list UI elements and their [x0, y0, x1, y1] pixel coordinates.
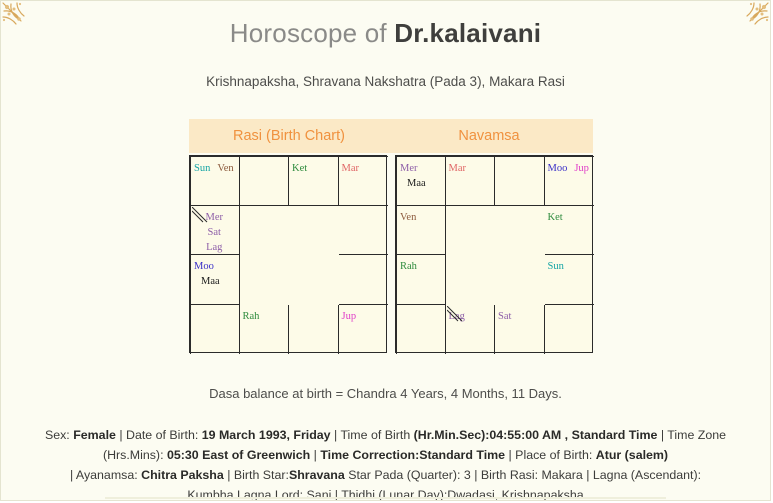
detail-label: | Time of Birth [331, 428, 414, 442]
detail-label: | [310, 448, 320, 462]
house-planet-list: Sat [495, 305, 544, 324]
birth-details-block: Sex: Female | Date of Birth: 19 March 19… [13, 425, 758, 501]
planet-label-moo: Moo [194, 259, 214, 274]
house-planet-list [191, 305, 239, 309]
dasa-balance-text: Dasa balance at birth = Chandra 4 Years,… [1, 386, 770, 401]
detail-value: Atur (salem) [596, 448, 668, 462]
planet-label-lag: Lag [194, 240, 235, 255]
birth-details-line: Sex: Female | Date of Birth: 19 March 19… [13, 425, 758, 445]
chart-house-cell[interactable] [339, 206, 389, 256]
page-title-prefix: Horoscope of [230, 18, 394, 48]
house-planet-list: Rah [397, 255, 445, 274]
chart-house-cell[interactable] [545, 305, 595, 355]
house-planet-list [397, 305, 445, 309]
house-planet-list: Mar [339, 157, 389, 176]
planet-label-maa: Maa [201, 274, 220, 289]
chart-house-cell[interactable]: Mar [446, 156, 496, 206]
house-planet-list: Ven [397, 206, 445, 225]
chart-house-cell[interactable]: Jup [339, 305, 389, 355]
planet-label-sat: Sat [498, 309, 511, 324]
detail-value: (Hr.Min.Sec):04:55:00 AM , Standard Time [414, 428, 658, 442]
chart-house-cell[interactable]: Ket [289, 156, 339, 206]
house-planet-list: Mar [446, 157, 495, 176]
navamsa-chart-grid[interactable]: MerMaaMarMooJupVenKetRahSunLagSat [395, 155, 593, 353]
chart-house-cell[interactable]: Ket [545, 206, 595, 256]
detail-value: Chitra Paksha [141, 468, 224, 482]
page-title: Horoscope of Dr.kalaivani [1, 1, 770, 49]
chart-house-cell[interactable] [240, 156, 290, 206]
rasi-chart-grid[interactable]: SunVenKetMarMerSatLagMooMaaRahJup [189, 155, 387, 353]
planet-label-sun: Sun [194, 161, 210, 176]
planet-label-rah: Rah [243, 309, 260, 324]
detail-label: | Time Zone [657, 428, 726, 442]
house-planet-list [240, 157, 289, 161]
detail-value: 19 March 1993, Friday [202, 428, 331, 442]
planet-label-jup: Jup [574, 161, 589, 176]
detail-label: | Date of Birth: [116, 428, 202, 442]
planet-label-mer: Mer [400, 161, 418, 176]
planet-label-ket: Ket [292, 161, 307, 176]
planet-label-mer: Mer [194, 210, 235, 225]
chart-house-cell[interactable] [190, 305, 240, 355]
detail-label: (Hrs.Mins): [103, 448, 167, 462]
house-planet-list: MerSatLag [191, 206, 239, 256]
planet-label-sun: Sun [548, 259, 564, 274]
page-title-name: Dr.kalaivani [394, 18, 541, 48]
house-planet-list: Jup [339, 305, 389, 324]
chart-house-cell[interactable]: Ven [396, 206, 446, 256]
detail-value: 05:30 East of Greenwich [167, 448, 310, 462]
house-planet-list: Lag [446, 305, 495, 324]
charts-header-band: Rasi (Birth Chart) Navamsa [189, 119, 593, 153]
chart-house-cell[interactable]: Rah [396, 255, 446, 305]
chart-house-cell[interactable]: MooJup [545, 156, 595, 206]
house-planet-list: Ket [545, 206, 595, 225]
detail-value: Female [73, 428, 116, 442]
chart-house-cell[interactable] [289, 305, 339, 355]
planet-label-mar: Mar [449, 161, 467, 176]
house-planet-list: Rah [240, 305, 289, 324]
house-planet-list [289, 305, 338, 309]
detail-label: | Birth Star: [224, 468, 289, 482]
horoscope-subtitle: Krishnapaksha, Shravana Nakshatra (Pada … [1, 74, 770, 89]
chart-house-cell[interactable] [396, 305, 446, 355]
house-planet-list: SunVen [191, 157, 239, 176]
house-planet-list [339, 206, 389, 210]
planet-label-rah: Rah [400, 259, 417, 274]
chart-house-cell[interactable]: MerSatLag [190, 206, 240, 256]
navamsa-chart-label: Navamsa [389, 128, 593, 144]
house-planet-list [545, 305, 595, 309]
house-planet-list [339, 255, 389, 259]
chart-house-cell[interactable] [495, 156, 545, 206]
birth-details-line: | Ayanamsa: Chitra Paksha | Birth Star:S… [13, 465, 758, 485]
chart-house-cell[interactable]: Mar [339, 156, 389, 206]
rasi-chart-label: Rasi (Birth Chart) [189, 128, 389, 144]
planet-label-ven: Ven [217, 161, 233, 176]
planet-label-lag: Lag [449, 309, 465, 324]
chart-house-cell[interactable]: Rah [240, 305, 290, 355]
planet-label-moo: Moo [548, 161, 568, 176]
house-planet-list [495, 157, 544, 161]
birth-details-line: (Hrs.Mins): 05:30 East of Greenwich | Ti… [13, 445, 758, 465]
planet-label-jup: Jup [342, 309, 357, 324]
house-planet-list: MooJup [545, 157, 595, 176]
chart-house-cell[interactable]: MerMaa [396, 156, 446, 206]
chart-house-cell[interactable]: SunVen [190, 156, 240, 206]
detail-label: Star Pada (Quarter): 3 | Birth Rasi: Mak… [345, 468, 701, 482]
footer-divider [105, 497, 666, 499]
horoscope-page: Horoscope of Dr.kalaivani Krishnapaksha,… [0, 0, 771, 501]
planet-label-maa: Maa [407, 176, 426, 191]
house-planet-list: Sun [545, 255, 595, 274]
planet-label-sat: Sat [194, 225, 235, 240]
house-planet-list: Ket [289, 157, 338, 176]
charts-section: Rasi (Birth Chart) Navamsa SunVenKetMarM… [189, 119, 593, 353]
planet-label-ven: Ven [400, 210, 416, 225]
house-planet-list: MerMaa [397, 157, 445, 191]
chart-house-cell[interactable]: Sun [545, 255, 595, 305]
detail-label: | Place of Birth: [505, 448, 596, 462]
chart-house-cell[interactable]: MooMaa [190, 255, 240, 305]
planet-label-mar: Mar [342, 161, 360, 176]
chart-house-cell[interactable] [339, 255, 389, 305]
detail-label: | Ayanamsa: [70, 468, 141, 482]
chart-house-cell[interactable]: Lag [446, 305, 496, 355]
detail-value: Shravana [289, 468, 345, 482]
planet-label-ket: Ket [548, 210, 563, 225]
chart-house-cell[interactable]: Sat [495, 305, 545, 355]
house-planet-list: MooMaa [191, 255, 239, 289]
detail-value: Time Correction:Standard Time [320, 448, 505, 462]
detail-label: Sex: [45, 428, 73, 442]
detail-label: Kumbha Lagna Lord: Sani | Thidhi (Lunar … [187, 488, 583, 501]
